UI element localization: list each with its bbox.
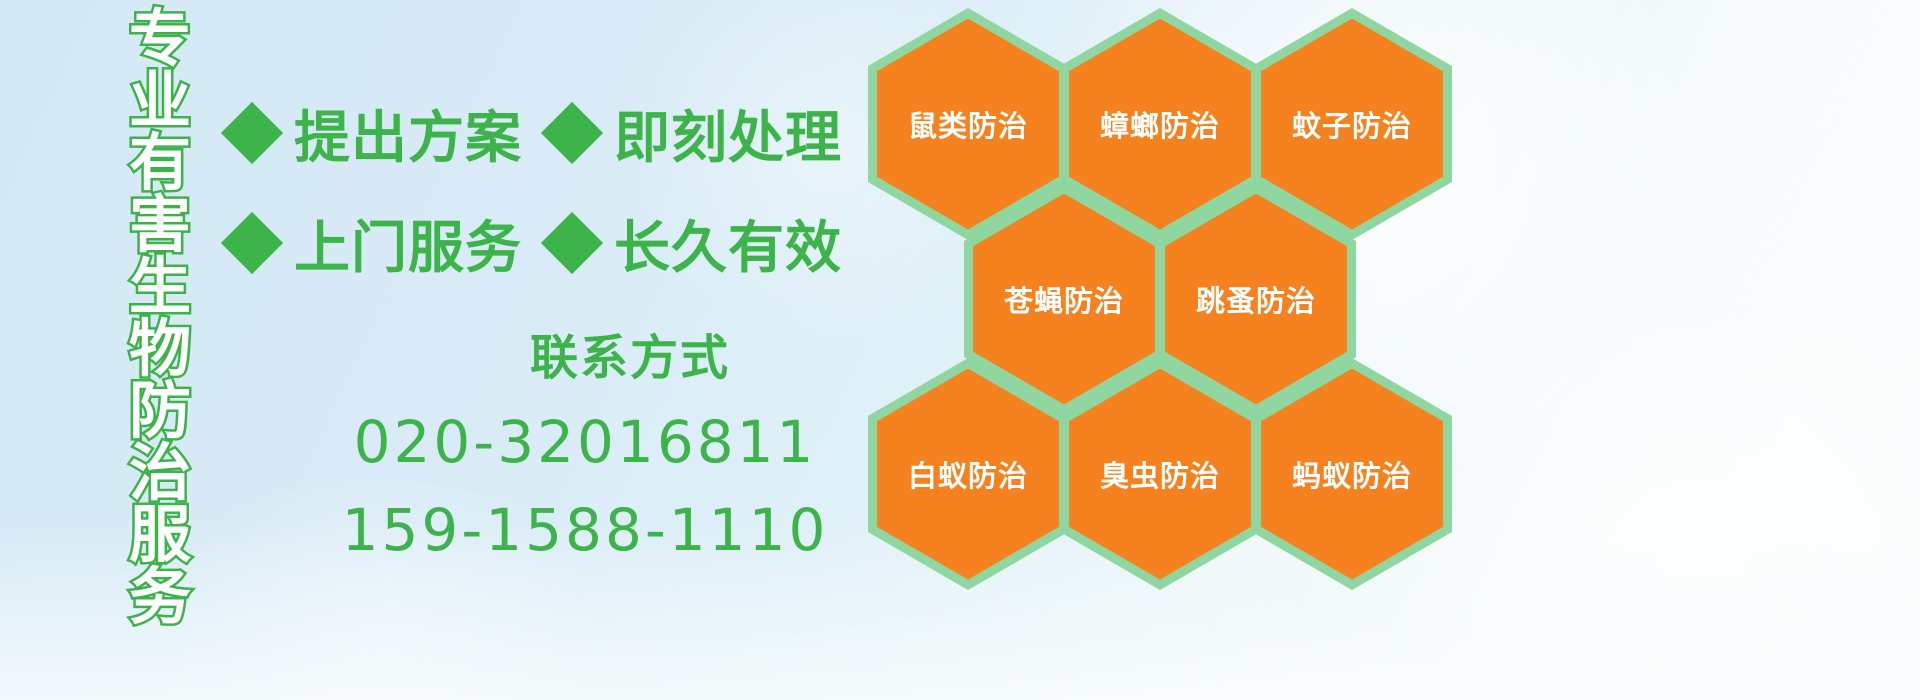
contact-label: 联系方式 xyxy=(410,318,850,388)
feature-label: 上门服务 xyxy=(294,203,522,284)
service-hex-label: 蚂蚁防治 xyxy=(1292,453,1412,495)
diamond-bullet-icon xyxy=(541,212,603,274)
service-hex-inner: 蚂蚁防治 xyxy=(1261,369,1443,580)
feature-item: 上门服务 xyxy=(230,203,522,284)
service-hex-label: 苍蝇防治 xyxy=(1004,278,1124,320)
vertical-title: 专 业 有 害 生 物 防 治 服 务 xyxy=(108,8,212,568)
feature-row: 提出方案 即刻处理 xyxy=(230,78,870,188)
feature-label: 提出方案 xyxy=(294,93,522,174)
vertical-title-char: 务 xyxy=(129,566,191,628)
vertical-title-char: 服 xyxy=(129,504,191,566)
vertical-title-char: 防 xyxy=(129,380,191,442)
service-hex-inner: 跳蚤防治 xyxy=(1165,194,1347,405)
service-hex-inner: 臭虫防治 xyxy=(1069,369,1251,580)
service-hex-label: 白蚁防治 xyxy=(908,453,1028,495)
feature-row: 上门服务 长久有效 xyxy=(230,188,870,298)
service-hex-label: 蟑螂防治 xyxy=(1100,103,1220,145)
pest-control-banner: 专 业 有 害 生 物 防 治 服 务 提出方案 即刻处理 上门服务 xyxy=(0,0,1920,700)
service-hexagon-grid: 鼠类防治 蟑螂防治 蚊子防治 苍蝇防治 跳蚤防治 白蚁防治 xyxy=(852,0,1452,560)
vertical-title-char: 害 xyxy=(129,194,191,256)
service-hex-inner: 蚊子防治 xyxy=(1261,19,1443,230)
vertical-title-char: 物 xyxy=(129,318,191,380)
service-hex-inner: 蟑螂防治 xyxy=(1069,19,1251,230)
vertical-title-char: 生 xyxy=(129,256,191,318)
vertical-title-char: 业 xyxy=(129,70,191,132)
feature-item: 长久有效 xyxy=(550,203,842,284)
service-hex-inner: 鼠类防治 xyxy=(877,19,1059,230)
service-hex-label: 鼠类防治 xyxy=(908,103,1028,145)
feature-item: 即刻处理 xyxy=(550,93,842,174)
vertical-title-char: 专 xyxy=(129,8,191,70)
vertical-title-char: 治 xyxy=(129,442,191,504)
diamond-bullet-icon xyxy=(221,212,283,274)
contact-block: 联系方式 020-32016811 159-1588-1110 xyxy=(230,318,850,564)
feature-list: 提出方案 即刻处理 上门服务 长久有效 xyxy=(230,78,870,298)
service-hex-label: 蚊子防治 xyxy=(1292,103,1412,145)
feature-item: 提出方案 xyxy=(230,93,522,174)
service-hex-inner: 苍蝇防治 xyxy=(973,194,1155,405)
background-light-bloom xyxy=(1380,300,1920,700)
phone-number-mobile[interactable]: 159-1588-1110 xyxy=(320,496,850,564)
vertical-title-char: 有 xyxy=(129,132,191,194)
phone-number-landline[interactable]: 020-32016811 xyxy=(320,408,850,476)
feature-label: 长久有效 xyxy=(614,203,842,284)
service-hex-label: 臭虫防治 xyxy=(1100,453,1220,495)
service-hex-inner: 白蚁防治 xyxy=(877,369,1059,580)
diamond-bullet-icon xyxy=(221,102,283,164)
service-hex-label: 跳蚤防治 xyxy=(1196,278,1316,320)
feature-label: 即刻处理 xyxy=(614,93,842,174)
diamond-bullet-icon xyxy=(541,102,603,164)
